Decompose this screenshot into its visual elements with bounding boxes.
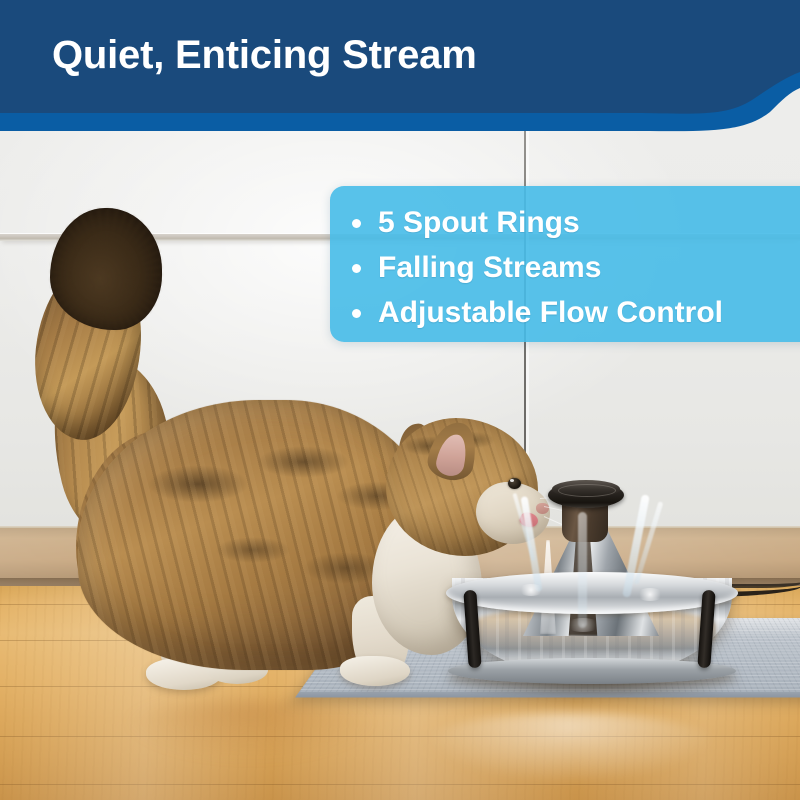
feature-list-item: Adjustable Flow Control [352, 290, 800, 335]
feature-list-item: Falling Streams [352, 245, 800, 290]
water-stream-center [578, 512, 587, 628]
fountain-cap-ring [558, 484, 616, 497]
water-splash-center [566, 618, 600, 632]
water-splash-right [636, 588, 664, 601]
header-banner: Quiet, Enticing Stream [0, 0, 800, 140]
fountain-bowl-base [448, 658, 736, 684]
water-splash-left [518, 584, 544, 596]
page-title: Quiet, Enticing Stream [52, 33, 477, 78]
feature-list-item: 5 Spout Rings [352, 200, 800, 245]
fountain-bowl-rim [446, 572, 738, 614]
feature-list: 5 Spout Rings Falling Streams Adjustable… [330, 186, 800, 335]
product-feature-card: Quiet, Enticing Stream 5 Spout Rings Fal… [0, 0, 800, 800]
feature-callout-box: 5 Spout Rings Falling Streams Adjustable… [330, 186, 800, 342]
